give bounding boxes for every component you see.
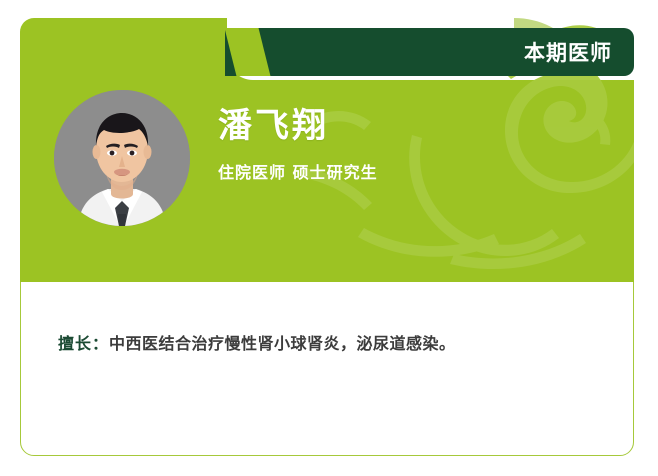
specialty-line: 擅长：中西医结合治疗慢性肾小球肾炎，泌尿道感染。	[58, 330, 456, 354]
doctor-portrait-photo	[54, 90, 190, 226]
doctor-title: 住院医师 硕士研究生	[218, 159, 378, 183]
doctor-name: 潘飞翔	[218, 108, 378, 145]
specialty-separator: ：	[92, 334, 109, 353]
portrait-illustration	[54, 90, 190, 226]
badge-label: 本期医师	[524, 37, 612, 67]
banner-slant-shape	[225, 28, 271, 76]
specialty-label: 擅长	[58, 334, 92, 353]
doctor-profile-card: 本期医师	[0, 0, 658, 476]
specialty-text: 中西医结合治疗慢性肾小球肾炎，泌尿道感染。	[109, 334, 456, 353]
badge-banner: 本期医师	[225, 28, 634, 76]
doctor-name-block: 潘飞翔 住院医师 硕士研究生	[218, 108, 378, 183]
